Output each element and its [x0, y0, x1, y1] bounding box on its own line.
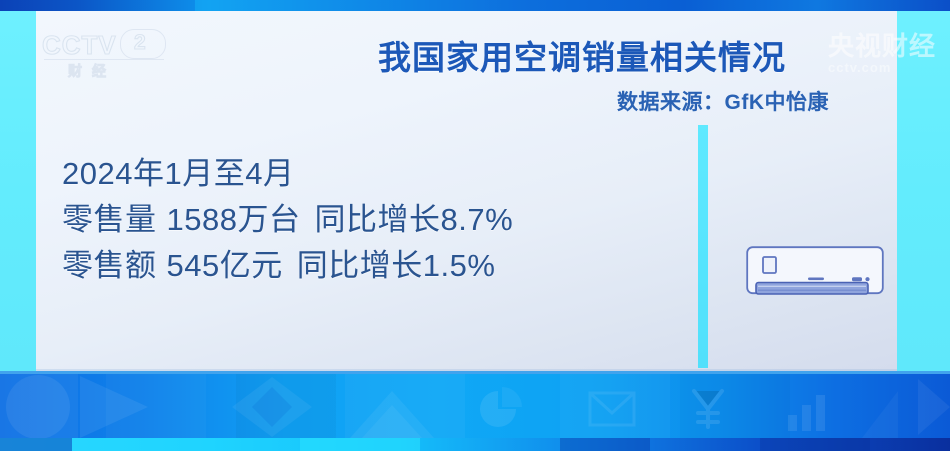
- stat-change: 同比增长1.5%: [297, 248, 496, 283]
- stat-value: 545亿元: [167, 248, 283, 283]
- broadcast-graphic: CCTV 2 财经 我国家用空调销量相关情况 数据来源：GfK中怡康 央视财经 …: [0, 0, 950, 451]
- stat-row-retail-value: 零售额545亿元同比增长1.5%: [62, 243, 513, 289]
- right-accent-rail: [897, 11, 950, 371]
- cctv-logo-number: 2: [134, 31, 146, 55]
- stat-value: 1588万台: [167, 202, 301, 237]
- vertical-divider: [698, 125, 708, 368]
- page-title: 我国家用空调销量相关情况: [378, 31, 786, 79]
- data-source-label: 数据来源：GfK中怡康: [617, 86, 829, 116]
- cctv-logo-wordmark: CCTV: [42, 30, 117, 61]
- cctv2-logo: CCTV 2 财经: [42, 30, 170, 76]
- left-accent-rail: [0, 11, 36, 371]
- stat-label: 零售额: [62, 248, 157, 283]
- bottom-band-graphics: [0, 371, 950, 451]
- stat-row-retail-volume: 零售量1588万台同比增长8.7%: [62, 197, 513, 243]
- air-conditioner-svg: [746, 246, 884, 298]
- air-conditioner-icon: [746, 246, 884, 298]
- cctv-logo-subtitle: 财经: [68, 61, 116, 81]
- statistics-block: 2024年1月至4月 零售量1588万台同比增长8.7% 零售额545亿元同比增…: [62, 151, 513, 289]
- stat-change: 同比增长8.7%: [314, 202, 513, 237]
- top-band-dark-segment: [0, 0, 195, 11]
- period-line: 2024年1月至4月: [62, 151, 513, 197]
- bottom-decor-band: [0, 371, 950, 451]
- stat-label: 零售量: [62, 202, 157, 237]
